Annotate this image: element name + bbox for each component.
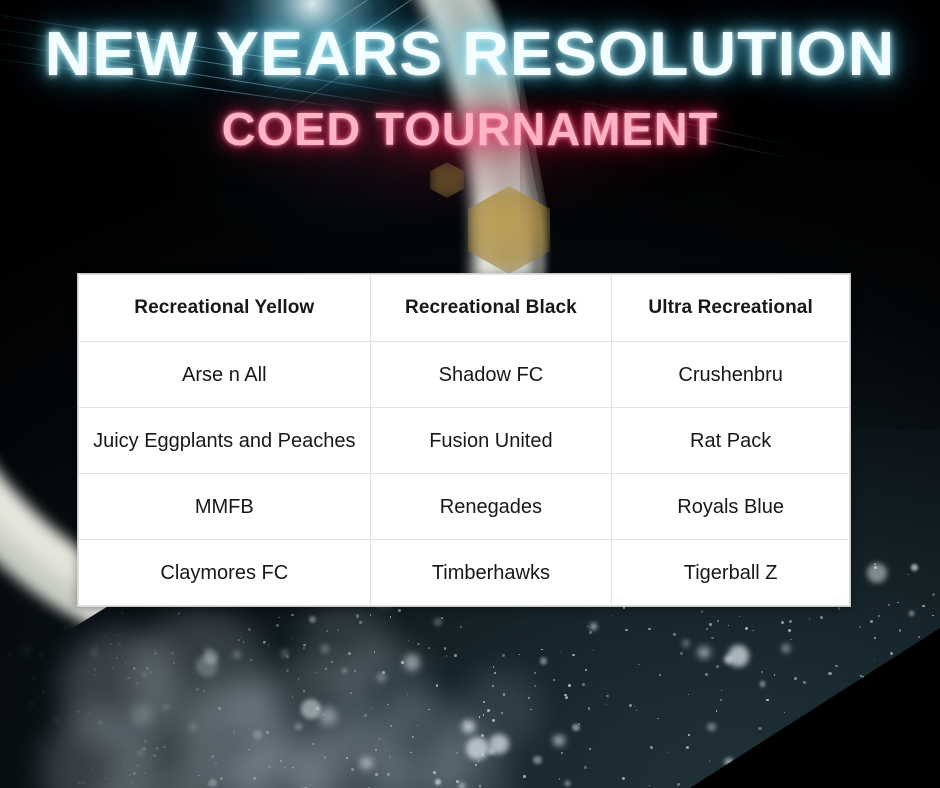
particle (561, 752, 563, 754)
particle (64, 626, 67, 629)
particle (144, 772, 145, 773)
particle (233, 731, 236, 734)
particle (503, 693, 505, 695)
particle (721, 690, 722, 691)
particle (156, 747, 159, 750)
particle (96, 644, 98, 646)
hex-bokeh-small (430, 162, 464, 198)
particle (720, 699, 722, 701)
particle (136, 764, 139, 767)
particle (625, 629, 628, 632)
particle (154, 652, 157, 655)
particle (112, 667, 115, 670)
particle (590, 623, 597, 630)
particle (659, 674, 661, 676)
particle (483, 714, 485, 716)
particle (494, 672, 496, 674)
particle (348, 652, 351, 655)
particle (623, 606, 625, 608)
particle (650, 746, 653, 749)
particle (131, 704, 153, 726)
particle (8, 653, 11, 656)
particle (745, 627, 748, 630)
particle (240, 637, 241, 638)
particle (178, 612, 180, 614)
particle (331, 661, 333, 663)
table-header-row: Recreational Yellow Recreational Black U… (79, 275, 850, 342)
table-cell: Arse n All (79, 342, 371, 408)
particle (26, 655, 30, 659)
particle (198, 775, 199, 776)
particle (636, 710, 638, 712)
particle (104, 777, 106, 779)
particle (487, 709, 490, 712)
particle (481, 734, 484, 737)
particle (809, 618, 811, 620)
particle (874, 637, 876, 639)
particle (196, 688, 199, 691)
particle (133, 772, 136, 775)
particle (790, 639, 791, 640)
particle (462, 720, 474, 732)
particle (280, 760, 283, 763)
particle (32, 675, 37, 680)
particle (667, 752, 668, 753)
particle (29, 701, 35, 707)
particle (108, 727, 109, 728)
particle (752, 630, 753, 631)
particle (250, 659, 252, 661)
particle (73, 779, 75, 781)
particle (301, 786, 303, 788)
particle (435, 619, 441, 625)
particle (312, 743, 315, 746)
particle (375, 749, 377, 751)
particle (123, 762, 125, 764)
particle (410, 752, 412, 754)
particle (387, 773, 390, 776)
particle (325, 668, 328, 671)
particle (523, 775, 526, 778)
particle (131, 782, 134, 785)
particle (15, 740, 17, 742)
particle (648, 628, 651, 631)
particle (688, 734, 690, 736)
particle (85, 654, 86, 655)
particle (88, 712, 90, 714)
particle (789, 620, 792, 623)
particle (47, 632, 49, 634)
table-cell: Rat Pack (612, 408, 850, 474)
particle (220, 777, 223, 780)
particle (215, 762, 217, 764)
table-row: Claymores FCTimberhawksTigerball Z (79, 540, 850, 606)
particle (657, 718, 658, 719)
particle (17, 599, 20, 602)
table-body: Arse n AllShadow FCCrushenbruJuicy Eggpl… (79, 342, 850, 606)
particle (211, 755, 214, 758)
particle (760, 681, 766, 687)
particle (40, 637, 42, 639)
table-row: Arse n AllShadow FCCrushenbru (79, 342, 850, 408)
particle (553, 735, 565, 747)
particle (483, 701, 485, 703)
particle (129, 774, 132, 777)
particle (459, 783, 464, 788)
particle (707, 723, 716, 732)
particle (1, 775, 2, 776)
table-cell: Renegades (370, 474, 612, 540)
particle (492, 685, 494, 687)
particle (266, 731, 269, 734)
column-header-ultra-recreational: Ultra Recreational (612, 275, 850, 342)
particle (346, 757, 348, 759)
particle (98, 720, 103, 725)
particle (589, 748, 591, 750)
particle (412, 736, 414, 738)
particle (316, 672, 317, 673)
particle (321, 645, 329, 653)
particle (774, 674, 775, 675)
particle (446, 655, 447, 656)
particle (649, 785, 650, 786)
particle (127, 677, 130, 680)
particle (121, 612, 123, 614)
particle (761, 671, 763, 673)
particle (45, 745, 47, 747)
particle (589, 631, 592, 634)
column-header-recreational-yellow: Recreational Yellow (79, 275, 371, 342)
particle (435, 779, 441, 785)
table-row: Juicy Eggplants and PeachesFusion United… (79, 408, 850, 474)
particle (286, 669, 289, 672)
particle (612, 615, 613, 616)
particle (77, 784, 78, 785)
particle (899, 629, 901, 631)
particle (456, 752, 458, 754)
particle (530, 709, 531, 710)
particle (701, 610, 704, 613)
column-header-recreational-black: Recreational Black (370, 275, 612, 342)
particle (110, 707, 111, 708)
particle (398, 609, 401, 612)
particle (922, 605, 925, 608)
particle (303, 647, 305, 649)
particle (489, 734, 509, 754)
particle (932, 615, 934, 617)
particle (163, 704, 170, 711)
particle (125, 746, 127, 748)
particle (541, 649, 543, 651)
particle (104, 636, 106, 638)
particle (146, 667, 149, 670)
particle (137, 750, 143, 756)
particle (136, 682, 139, 685)
particle (475, 764, 477, 766)
particle (564, 694, 566, 696)
particle (36, 593, 38, 595)
particle (209, 779, 216, 786)
particle (12, 778, 13, 779)
particle (267, 766, 269, 768)
particle (238, 639, 240, 641)
particle (568, 684, 571, 687)
particle (110, 643, 112, 645)
particle (433, 771, 436, 774)
particle (606, 695, 609, 698)
particle (705, 673, 708, 676)
particle (870, 620, 873, 623)
particle (54, 717, 60, 723)
particle (565, 696, 568, 699)
particle (593, 650, 594, 651)
particle (309, 616, 316, 623)
particle (428, 647, 430, 649)
particle (295, 723, 302, 730)
particle (565, 781, 570, 786)
particle (375, 773, 378, 776)
particle (389, 756, 391, 758)
particle (932, 593, 935, 596)
particle (782, 644, 791, 653)
particle (585, 669, 587, 671)
particle (42, 690, 45, 693)
particle (436, 684, 438, 686)
particle (911, 564, 918, 571)
particle (444, 647, 446, 649)
particle (324, 756, 327, 759)
particle (417, 643, 419, 645)
tournament-poster: NEW YEARS RESOLUTION COED TOURNAMENT Rec… (0, 0, 940, 788)
particle (622, 777, 625, 780)
particle (908, 574, 909, 575)
particle (828, 672, 831, 675)
particle (364, 714, 367, 717)
particle (301, 699, 320, 718)
particle (203, 690, 205, 692)
particle (37, 628, 38, 629)
particle (1, 656, 3, 658)
particle (116, 657, 118, 659)
particle (243, 641, 245, 643)
particle (100, 783, 102, 785)
particle (493, 666, 494, 667)
table-cell: Tigerball Z (612, 540, 850, 606)
particle (163, 746, 166, 749)
particle (588, 707, 590, 709)
particle (918, 636, 920, 638)
particle (354, 670, 356, 672)
particle (248, 628, 251, 631)
particle (686, 746, 689, 749)
particle (528, 697, 530, 699)
particle (1, 676, 4, 679)
particle (572, 724, 580, 732)
particle (479, 785, 481, 787)
particle (50, 785, 52, 787)
particle (253, 777, 256, 780)
table-cell: MMFB (79, 474, 371, 540)
particle (319, 707, 337, 725)
particle (263, 641, 266, 644)
particle (534, 685, 536, 687)
table-row: MMFBRenegadesRoyals Blue (79, 474, 850, 540)
particle (638, 664, 639, 665)
particle (460, 626, 462, 628)
particle (518, 654, 519, 655)
table-cell: Royals Blue (612, 474, 850, 540)
particle (673, 633, 675, 635)
particle (303, 690, 304, 691)
particle (248, 749, 250, 751)
particle (371, 707, 373, 709)
particle (417, 725, 419, 727)
particle (77, 710, 80, 713)
particle (758, 727, 761, 730)
particle (149, 671, 152, 674)
particle (377, 673, 386, 682)
particle (171, 652, 173, 654)
particle (441, 617, 443, 619)
particle (584, 766, 587, 769)
particle (38, 653, 43, 658)
particle (404, 654, 420, 670)
particle (784, 712, 785, 713)
particle (606, 704, 607, 705)
particle (12, 701, 14, 703)
particle (677, 783, 679, 785)
particle (728, 625, 729, 626)
particle (454, 654, 457, 657)
particle (82, 781, 85, 784)
particle (303, 644, 305, 646)
particle (390, 725, 392, 727)
particle (502, 654, 505, 657)
particle (337, 629, 339, 631)
particle (766, 699, 769, 702)
particle (390, 616, 391, 617)
particle (94, 668, 97, 671)
poster-headings: NEW YEARS RESOLUTION COED TOURNAMENT (0, 0, 940, 154)
divisions-table: Recreational Yellow Recreational Black U… (78, 274, 850, 606)
particle (680, 652, 683, 655)
particle (634, 706, 635, 707)
particle (501, 712, 503, 714)
particle (897, 602, 898, 603)
table-cell: Shadow FC (370, 342, 612, 408)
particle (142, 747, 145, 750)
particle (91, 767, 93, 769)
particle (125, 662, 126, 663)
particle (553, 679, 555, 681)
particle (360, 757, 373, 770)
particle (268, 644, 269, 645)
particle (117, 634, 119, 636)
particle (90, 648, 99, 657)
particle (456, 780, 459, 783)
particle (31, 642, 34, 645)
particle (189, 723, 196, 730)
particle (153, 754, 156, 757)
particle (37, 655, 39, 657)
table-cell: Fusion United (370, 408, 612, 474)
particle (888, 604, 890, 606)
particle (292, 696, 294, 698)
particle (717, 620, 719, 622)
particle (533, 756, 542, 765)
particle (739, 616, 741, 618)
particle (709, 760, 710, 761)
particle (201, 775, 203, 777)
particle (820, 616, 823, 619)
particle (17, 768, 20, 771)
particle (144, 740, 146, 742)
particle (716, 710, 718, 712)
particle (350, 692, 352, 694)
particle (278, 617, 279, 618)
table-cell: Claymores FC (79, 540, 371, 606)
particle (909, 611, 915, 617)
particle (342, 668, 346, 672)
particle (356, 614, 359, 617)
particle (859, 626, 861, 628)
table-cell: Timberhawks (370, 540, 612, 606)
table-cell: Crushenbru (612, 342, 850, 408)
particle (192, 673, 193, 674)
particle (43, 622, 44, 623)
particle (587, 626, 588, 627)
particle (582, 683, 585, 686)
particle (629, 704, 632, 707)
particle (326, 630, 328, 632)
particle (118, 642, 121, 645)
particle (711, 637, 713, 639)
particle (58, 565, 66, 573)
divisions-table-container: Recreational Yellow Recreational Black U… (78, 274, 850, 606)
particle (794, 677, 797, 680)
particle (803, 681, 806, 684)
particle (173, 662, 175, 664)
page-title: NEW YEARS RESOLUTION (0, 22, 940, 88)
particle (292, 639, 293, 640)
particle (716, 665, 718, 667)
particle (382, 671, 385, 674)
particle (878, 615, 880, 617)
particle (408, 640, 410, 642)
particle (706, 628, 708, 630)
particle (492, 719, 495, 722)
particle (282, 650, 288, 656)
particle (233, 651, 240, 658)
particle (572, 654, 574, 656)
particle (466, 737, 490, 761)
particle (298, 678, 300, 680)
particle (12, 759, 14, 761)
particle (359, 621, 361, 623)
particle (387, 704, 388, 705)
particle (559, 778, 561, 780)
particle (374, 651, 375, 652)
particle (890, 652, 893, 655)
particle (253, 730, 262, 739)
particle (709, 623, 712, 626)
particle (788, 629, 791, 632)
table-cell: Juicy Eggplants and Peaches (79, 408, 371, 474)
particle (688, 694, 689, 695)
particle (478, 760, 480, 762)
particle (351, 768, 354, 771)
particle (291, 614, 293, 616)
